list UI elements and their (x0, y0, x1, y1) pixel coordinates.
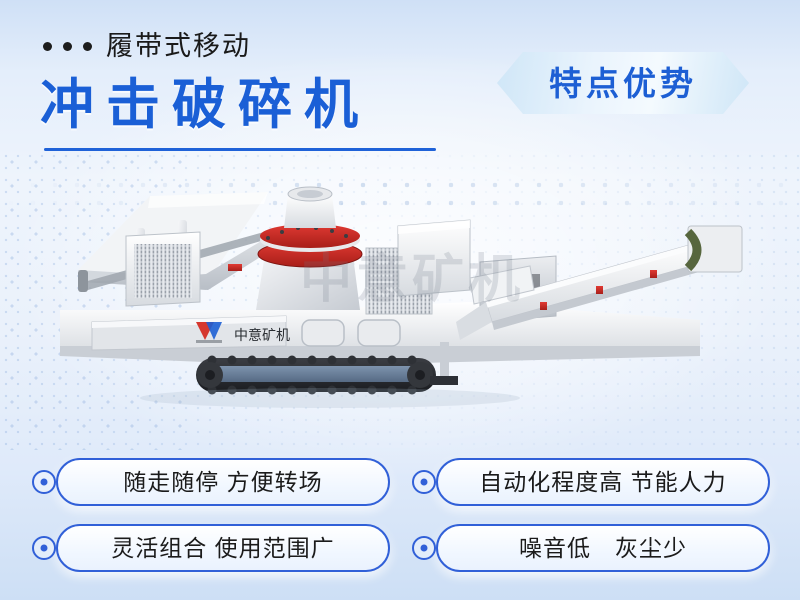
power-cabinet (398, 220, 470, 296)
kicker-label: 履带式移动 (106, 33, 251, 60)
feature-item-3[interactable]: 灵活组合 使用范围广 (32, 524, 390, 572)
brand-logo-text: 中意矿机 (234, 327, 290, 344)
feature-item-4[interactable]: 噪音低 灰尘少 (412, 524, 770, 572)
feature-label: 噪音低 灰尘少 (519, 537, 687, 560)
feature-pill[interactable]: 随走随停 方便转场 (56, 458, 390, 506)
bullet-circle-icon (32, 536, 56, 560)
title-underline (44, 148, 436, 151)
feature-label: 灵活组合 使用范围广 (111, 537, 334, 560)
feature-label: 随走随停 方便转场 (123, 471, 322, 494)
bullet-circle-icon (32, 470, 56, 494)
feature-label: 自动化程度高 节能人力 (479, 471, 726, 494)
bullet-circle-icon (412, 470, 436, 494)
poster-root: 履带式移动 冲击破碎机 特点优势 (0, 0, 800, 600)
feature-list: 随走随停 方便转场 自动化程度高 节能人力 灵活组合 使用范围广 噪音低 灰尘少 (0, 458, 800, 572)
feature-item-1[interactable]: 随走随停 方便转场 (32, 458, 390, 506)
kicker-dots-icon (43, 42, 92, 51)
features-badge: 特点优势 (497, 52, 749, 114)
feature-pill[interactable]: 噪音低 灰尘少 (436, 524, 770, 572)
page-title: 冲击破碎机 (40, 78, 370, 132)
feature-pill[interactable]: 自动化程度高 节能人力 (436, 458, 770, 506)
radiator-module (126, 232, 200, 306)
header-kicker: 履带式移动 (43, 33, 251, 60)
product-illustration: 中意矿机 (0, 170, 800, 430)
feature-pill[interactable]: 灵活组合 使用范围广 (56, 524, 390, 572)
cone-crusher (256, 187, 362, 310)
feature-item-2[interactable]: 自动化程度高 节能人力 (412, 458, 770, 506)
bullet-circle-icon (412, 536, 436, 560)
features-badge-label: 特点优势 (549, 67, 697, 100)
